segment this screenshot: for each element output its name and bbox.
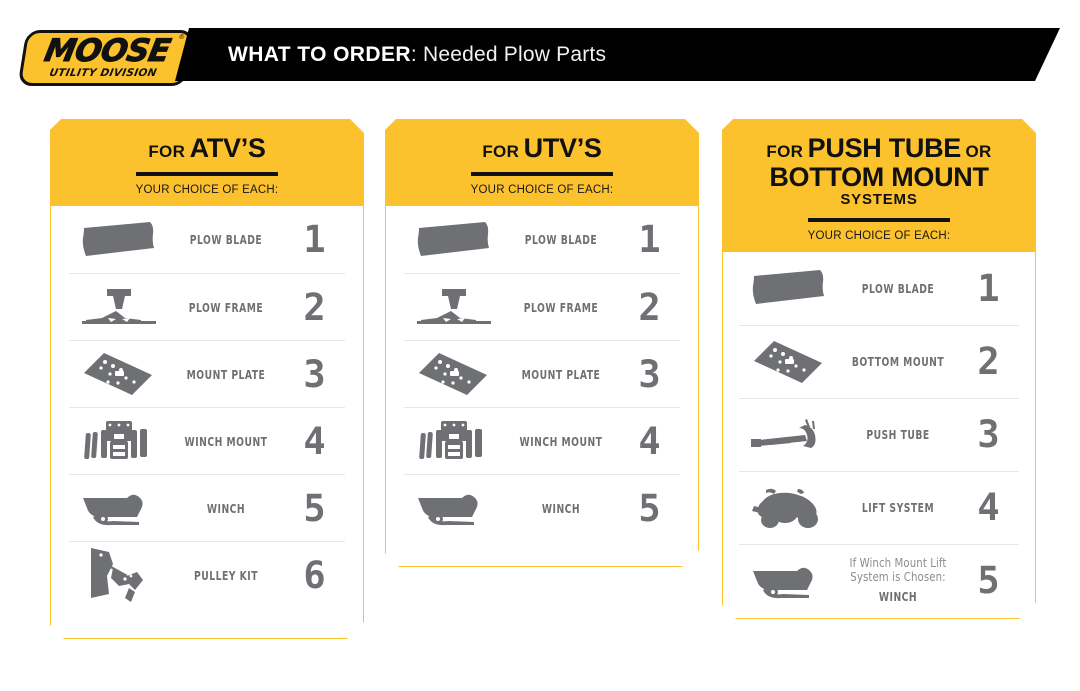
card-atv: FOR ATV’S YOUR CHOICE OF EACH: PLOW BLAD… <box>50 119 364 639</box>
table-row[interactable]: WINCH 5 <box>69 474 345 541</box>
row-label: WINCH <box>514 501 607 516</box>
card-utv-title-for: FOR <box>482 142 519 161</box>
logo-subtitle: UTILITY DIVISION <box>48 68 157 79</box>
winch-icon <box>739 561 839 601</box>
logo-wordmark: MOOSE <box>42 37 172 66</box>
row-label: WINCH <box>179 501 272 516</box>
row-number: 5 <box>618 490 680 527</box>
lift-system-icon <box>739 484 839 532</box>
row-label-winch-conditional: If Winch Mount Lift System is Chosen: WI… <box>850 557 947 604</box>
plow-frame-icon <box>404 285 504 329</box>
card-utv-header: FOR UTV’S YOUR CHOICE OF EACH: <box>386 120 698 206</box>
card-push-tube-bottom-mount: FOR PUSH TUBE OR BOTTOM MOUNT SYSTEMS YO… <box>722 119 1036 619</box>
row-number: 1 <box>283 221 345 258</box>
plow-blade-icon <box>404 220 504 260</box>
table-row[interactable]: If Winch Mount Lift System is Chosen: WI… <box>739 544 1019 617</box>
card-push-title-main: PUSH TUBE <box>808 133 961 163</box>
plow-blade-icon <box>739 268 839 308</box>
pulley-kit-icon <box>69 546 169 604</box>
table-row[interactable]: WINCH 5 <box>404 474 680 541</box>
card-push-title-line3: SYSTEMS <box>737 192 1021 208</box>
row-label: PLOW BLADE <box>850 281 947 296</box>
card-push-title-for: FOR <box>766 142 803 161</box>
winch-icon <box>69 488 169 528</box>
table-row[interactable]: PLOW BLADE 1 <box>69 206 345 273</box>
card-utv-title: FOR UTV’S <box>386 134 698 163</box>
row-number: 1 <box>957 270 1019 307</box>
card-atv-choice-label: YOUR CHOICE OF EACH: <box>51 184 363 196</box>
row-number: 1 <box>618 221 680 258</box>
table-row[interactable]: PLOW FRAME 2 <box>69 273 345 340</box>
card-push-title: FOR PUSH TUBE OR BOTTOM MOUNT SYSTEMS <box>723 134 1035 209</box>
card-atv-header: FOR ATV’S YOUR CHOICE OF EACH: <box>51 120 363 206</box>
mount-plate-icon <box>69 351 169 397</box>
card-atv-title-for: FOR <box>148 142 185 161</box>
row-label: WINCH <box>850 589 947 604</box>
card-utv-rows: PLOW BLADE 1 PLOW FRAME 2 MOUNT PLATE 3 <box>386 206 698 541</box>
mount-plate-icon <box>404 351 504 397</box>
row-number: 4 <box>957 489 1019 526</box>
row-number: 4 <box>283 423 345 460</box>
card-utv-title-rule <box>471 172 613 176</box>
row-label: LIFT SYSTEM <box>850 500 947 515</box>
row-label: PLOW BLADE <box>514 232 607 247</box>
bottom-mount-icon <box>739 339 839 385</box>
row-label: WINCH MOUNT <box>514 434 607 449</box>
row-label: PLOW FRAME <box>514 300 607 315</box>
table-row[interactable]: MOUNT PLATE 3 <box>404 340 680 407</box>
card-atv-title: FOR ATV’S <box>51 134 363 163</box>
table-row[interactable]: BOTTOM MOUNT 2 <box>739 325 1019 398</box>
table-row[interactable]: WINCH MOUNT 4 <box>69 407 345 474</box>
row-number: 5 <box>283 490 345 527</box>
card-atv-rows: PLOW BLADE 1 PLOW FRAME 2 MOUNT PLATE 3 <box>51 206 363 608</box>
row-number: 3 <box>618 356 680 393</box>
row-label: PULLEY KIT <box>179 568 272 583</box>
row-label: BOTTOM MOUNT <box>850 354 947 369</box>
row-note: If Winch Mount Lift System is Chosen: <box>842 557 953 585</box>
winch-mount-icon <box>404 418 504 464</box>
row-number: 5 <box>957 562 1019 599</box>
table-row[interactable]: PLOW BLADE 1 <box>739 252 1019 325</box>
card-push-title-or: OR <box>965 142 991 161</box>
card-push-choice-label: YOUR CHOICE OF EACH: <box>723 230 1035 242</box>
card-atv-title-rule <box>136 172 278 176</box>
row-label: PUSH TUBE <box>850 427 947 442</box>
row-label: PLOW FRAME <box>179 300 272 315</box>
card-push-rows: PLOW BLADE 1 BOTTOM MOUNT 2 PUSH TUBE 3 <box>723 252 1035 617</box>
card-push-title-rule <box>808 218 950 222</box>
row-label: MOUNT PLATE <box>179 367 272 382</box>
table-row[interactable]: MOUNT PLATE 3 <box>69 340 345 407</box>
card-utv-choice-label: YOUR CHOICE OF EACH: <box>386 184 698 196</box>
plow-frame-icon <box>69 285 169 329</box>
row-number: 3 <box>283 356 345 393</box>
table-row[interactable]: PUSH TUBE 3 <box>739 398 1019 471</box>
winch-icon <box>404 488 504 528</box>
moose-utility-division-logo: MOOSE UTILITY DIVISION ® <box>22 30 190 86</box>
page-title: WHAT TO ORDER: Needed Plow Parts <box>228 28 606 81</box>
card-push-title-line2: BOTTOM MOUNT <box>737 163 1021 192</box>
table-row[interactable]: LIFT SYSTEM 4 <box>739 471 1019 544</box>
card-utv-title-main: UTV’S <box>524 133 602 163</box>
winch-mount-icon <box>69 418 169 464</box>
table-row[interactable]: PULLEY KIT 6 <box>69 541 345 608</box>
registered-trademark-icon: ® <box>178 34 184 41</box>
page-title-strong: WHAT TO ORDER <box>228 43 411 66</box>
card-utv: FOR UTV’S YOUR CHOICE OF EACH: PLOW BLAD… <box>385 119 699 567</box>
push-tube-icon <box>739 415 839 455</box>
row-number: 2 <box>618 289 680 326</box>
row-number: 4 <box>618 423 680 460</box>
table-row[interactable]: WINCH MOUNT 4 <box>404 407 680 474</box>
row-number: 2 <box>283 289 345 326</box>
row-label: PLOW BLADE <box>179 232 272 247</box>
row-number: 2 <box>957 343 1019 380</box>
page-header: MOOSE UTILITY DIVISION ® WHAT TO ORDER: … <box>0 0 1080 100</box>
card-push-header: FOR PUSH TUBE OR BOTTOM MOUNT SYSTEMS YO… <box>723 120 1035 252</box>
row-number: 6 <box>283 557 345 594</box>
card-atv-title-main: ATV’S <box>190 133 266 163</box>
table-row[interactable]: PLOW FRAME 2 <box>404 273 680 340</box>
table-row[interactable]: PLOW BLADE 1 <box>404 206 680 273</box>
row-number: 3 <box>957 416 1019 453</box>
row-label: WINCH MOUNT <box>179 434 272 449</box>
logo-text-group: MOOSE UTILITY DIVISION <box>17 30 196 86</box>
card-push-title-line1: FOR PUSH TUBE OR <box>737 134 1021 163</box>
row-label: MOUNT PLATE <box>514 367 607 382</box>
page-title-rest: : Needed Plow Parts <box>411 43 606 66</box>
plow-blade-icon <box>69 220 169 260</box>
